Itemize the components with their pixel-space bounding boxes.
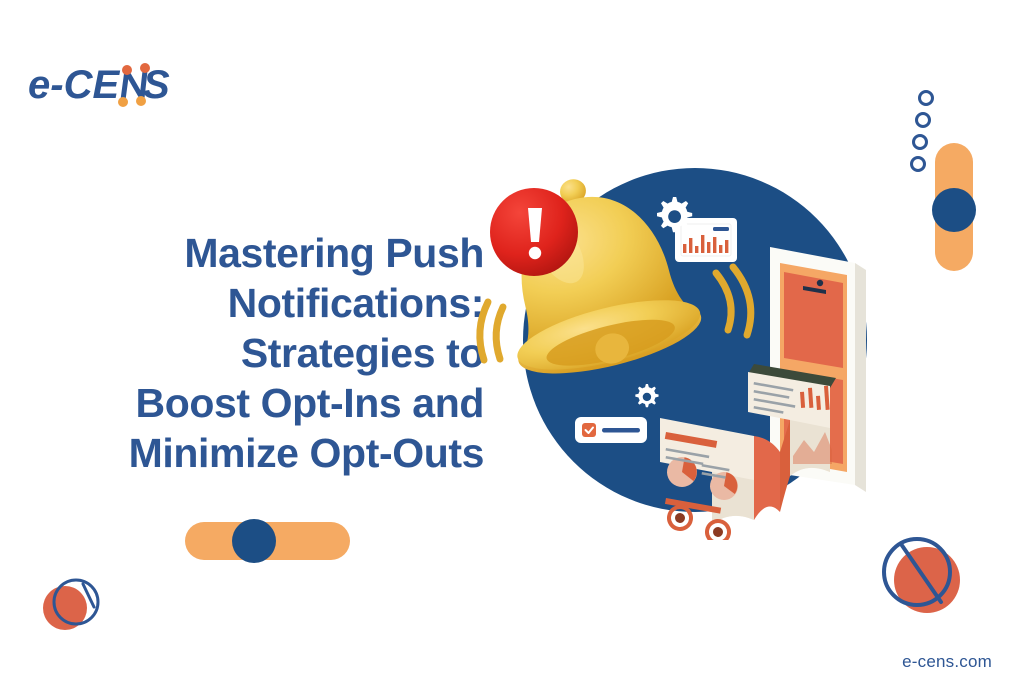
toggle-switch-vertical-decor[interactable] [935, 143, 973, 271]
page-title: Mastering Push Notifications: Strategies… [24, 228, 484, 478]
gear-icon-top [657, 197, 692, 232]
brand-logo[interactable]: e-CE S e-CENS [28, 56, 203, 112]
deco-ring [915, 112, 931, 128]
alert-badge-icon [490, 188, 578, 276]
toggle-knob [932, 188, 976, 232]
deco-circles-bottom-right [873, 532, 973, 632]
deco-ring [912, 134, 928, 150]
gear-icon-bottom [635, 384, 658, 407]
headline-line-4: Boost Opt-Ins and [135, 380, 484, 426]
checkbox-card-icon [575, 417, 647, 443]
headline-line-1: Mastering Push [184, 230, 484, 276]
deco-ring [918, 90, 934, 106]
exclamation-dot [529, 247, 541, 259]
site-url[interactable]: e-cens.com [902, 652, 992, 672]
sound-wave-left [480, 302, 503, 360]
toggle-switch-decor[interactable] [185, 522, 350, 560]
headline-line-3: Strategies to [241, 330, 484, 376]
headline-line-2: Notifications: [228, 280, 484, 326]
push-notification-illustration [470, 120, 900, 540]
deco-circles-bottom-left [38, 572, 104, 638]
logo-wordmark-text: e-CE [28, 63, 120, 107]
toggle-knob [232, 519, 276, 563]
receipt-donut-chart-2 [705, 519, 730, 540]
logo-network-node-icon [118, 63, 150, 107]
deco-ring [910, 156, 926, 172]
headline-line-5: Minimize Opt-Outs [129, 430, 484, 476]
